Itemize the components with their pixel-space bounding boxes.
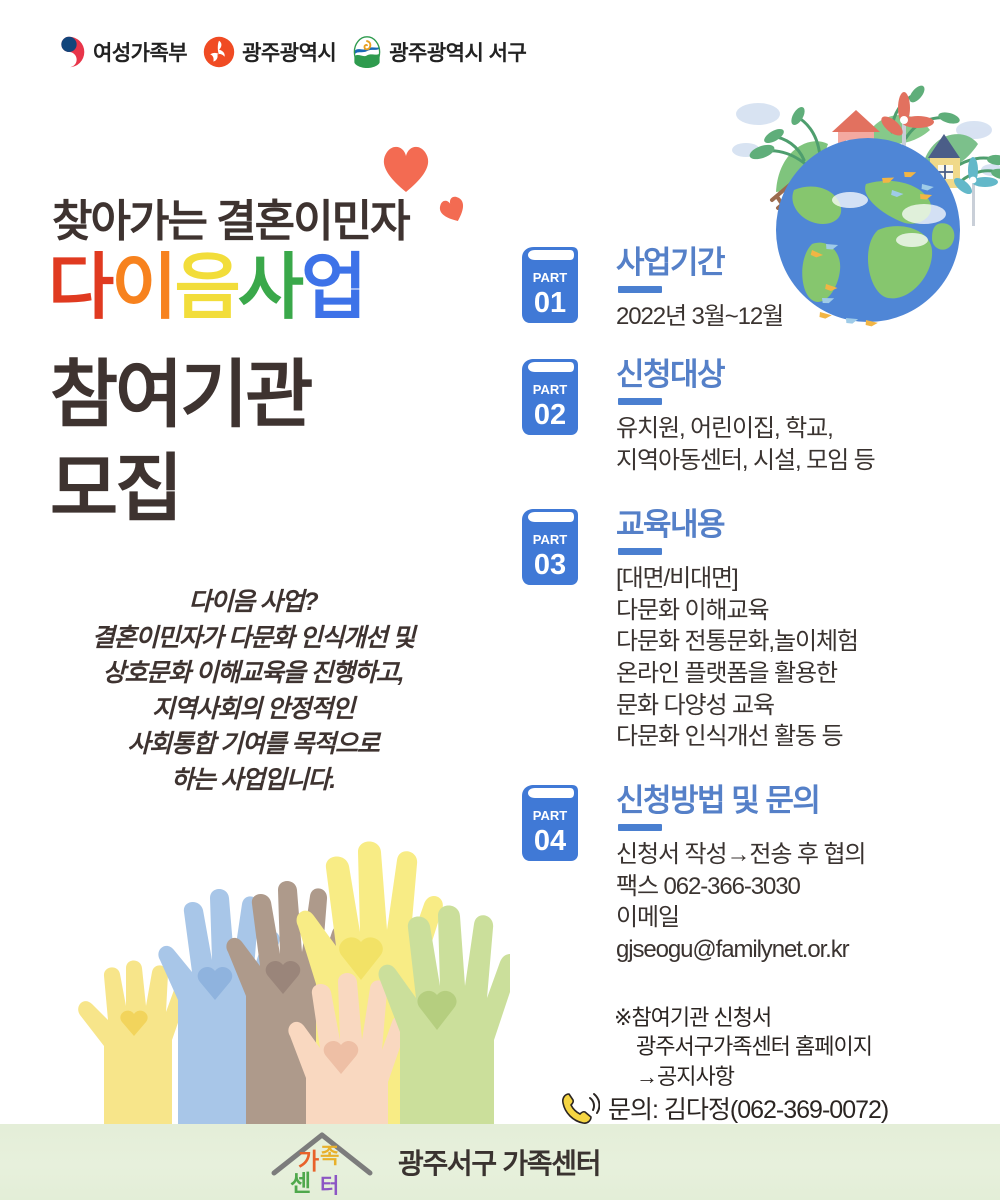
part-badge-number: 01 <box>534 287 566 319</box>
brand-char-2: 음 <box>175 252 238 324</box>
brand-char-3: 사 <box>238 252 301 324</box>
part-content-01: 2022년 3월~12월 <box>616 301 988 333</box>
part-line: 팩스 062-366-3030 <box>616 871 988 903</box>
part-item-01: PART 01 사업기간 2022년 3월~12월 <box>518 246 988 354</box>
part-content-04: 신청서 작성→전송 후 협의 팩스 062-366-3030 이메일 gjseo… <box>616 839 988 966</box>
part-item-02: PART 02 신청대상 유치원, 어린이집, 학교, 지역아동센터, 시설, … <box>518 358 988 504</box>
taegeuk-icon <box>52 35 86 69</box>
part-rule <box>618 548 662 555</box>
gwangju-city-icon <box>203 36 235 68</box>
part-heading-03: 교육내용 <box>616 508 988 542</box>
part-book-badge-icon: PART 01 <box>518 246 580 324</box>
hero-description: 다이음 사업? 결혼이민자가 다문화 인식개선 및 상호문화 이해교육을 진행하… <box>38 585 468 798</box>
part-badge-number: 02 <box>534 399 566 431</box>
organization-logo-bar: 여성가족부 광주광역시 광주광역시 서구 <box>52 28 526 76</box>
poster-canvas: 여성가족부 광주광역시 광주광역시 서구 <box>0 0 1000 1200</box>
part-book-badge-icon: PART 03 <box>518 508 580 586</box>
brand-char-0: 다 <box>48 252 111 324</box>
part-badge-number: 04 <box>534 825 566 857</box>
part-heading-01: 사업기간 <box>616 246 988 280</box>
blurb-line-3: 지역사회의 안정적인 <box>38 692 468 728</box>
footnote-line-0: ※참여기관 신청서 <box>614 1003 1000 1032</box>
hero-line-1: 참여기관 <box>50 358 310 432</box>
part-line: 다문화 전통문화,놀이체험 <box>616 626 988 658</box>
org-logo-seogu: 광주광역시 서구 <box>352 36 526 68</box>
brand-char-4: 업 <box>301 252 364 324</box>
phone-ringing-icon <box>560 1090 600 1126</box>
part-line: 온라인 플랫폼을 활용한 <box>616 658 988 690</box>
footer-center-name: 광주서구 가족센터 <box>398 1142 600 1182</box>
part-heading-02: 신청대상 <box>616 358 988 392</box>
contact-phone-text: 문의: 김다정(062-369-0072) <box>608 1090 888 1126</box>
seogu-district-icon <box>352 36 382 68</box>
hero-kicker: 찾아가는 결혼이민자 <box>52 185 409 249</box>
part-item-03: PART 03 교육내용 [대면/비대면] 다문화 이해교육 다문화 전통문화,… <box>518 508 988 780</box>
org-logo-gwangju: 광주광역시 <box>203 36 336 68</box>
part-line: 다문화 인식개선 활동 등 <box>616 721 988 753</box>
logo-char-teo: 터 <box>320 1175 339 1195</box>
brand-wordmark: 다이음사업 <box>48 252 364 324</box>
part-line-email: gjseogu@familynet.or.kr <box>616 934 988 966</box>
part-line: 2022년 3월~12월 <box>616 301 988 333</box>
part-line: 문화 다양성 교육 <box>616 690 988 722</box>
part-content-02: 유치원, 어린이집, 학교, 지역아동센터, 시설, 모임 등 <box>616 413 988 476</box>
part-content-03: [대면/비대면] 다문화 이해교육 다문화 전통문화,놀이체험 온라인 플랫폼을… <box>616 563 988 753</box>
org-logo-ministry: 여성가족부 <box>52 35 187 69</box>
part-badge-label: PART <box>533 382 567 397</box>
contact-phone-line: 문의: 김다정(062-369-0072) <box>560 1090 888 1126</box>
part-rule <box>618 824 662 831</box>
org-label-gwangju: 광주광역시 <box>242 37 336 67</box>
poster-footer: 가 족 센 터 광주서구 가족센터 <box>0 1124 1000 1200</box>
part-book-badge-icon: PART 02 <box>518 358 580 436</box>
blurb-line-2: 상호문화 이해교육을 진행하고, <box>38 656 468 692</box>
footnote-line-2: →공지사항 <box>614 1062 1000 1091</box>
part-line: 신청서 작성→전송 후 협의 <box>616 839 988 871</box>
part-line: 지역아동센터, 시설, 모임 등 <box>616 445 988 477</box>
part-heading-04: 신청방법 및 문의 <box>616 784 988 818</box>
part-rule <box>618 286 662 293</box>
part-badge-number: 03 <box>534 549 566 581</box>
raised-hands-illustration <box>60 800 510 1145</box>
part-badge-label: PART <box>533 808 567 823</box>
org-label-ministry: 여성가족부 <box>93 37 187 67</box>
heart-icon-large <box>378 142 434 194</box>
blurb-line-4: 사회통합 기여를 목적으로 <box>38 727 468 763</box>
hero-line-2: 모집 <box>50 452 180 526</box>
org-label-seogu: 광주광역시 서구 <box>389 37 526 67</box>
blurb-line-0: 다이음 사업? <box>38 585 468 621</box>
application-footnote: ※참여기관 신청서 광주서구가족센터 홈페이지 →공지사항 <box>614 1003 1000 1091</box>
blurb-line-1: 결혼이민자가 다문화 인식개선 및 <box>38 621 468 657</box>
part-line: 다문화 이해교육 <box>616 595 988 627</box>
parts-list: PART 01 사업기간 2022년 3월~12월 PART 02 신청대상 <box>518 246 988 970</box>
family-center-logo: 가 족 센 터 <box>268 1129 376 1195</box>
logo-char-sen: 센 <box>290 1170 311 1195</box>
part-item-04: PART 04 신청방법 및 문의 신청서 작성→전송 후 협의 팩스 062-… <box>518 784 988 966</box>
footnote-line-1: 광주서구가족센터 홈페이지 <box>614 1032 1000 1061</box>
part-rule <box>618 398 662 405</box>
blurb-line-5: 하는 사업입니다. <box>38 763 468 799</box>
part-badge-label: PART <box>533 270 567 285</box>
logo-char-jok: 족 <box>320 1145 339 1168</box>
part-badge-label: PART <box>533 532 567 547</box>
part-line: 유치원, 어린이집, 학교, <box>616 413 988 445</box>
part-line: [대면/비대면] <box>616 563 988 595</box>
brand-char-1: 이 <box>111 252 174 324</box>
part-book-badge-icon: PART 04 <box>518 784 580 862</box>
part-line: 이메일 <box>616 902 988 934</box>
heart-icon-small <box>438 196 468 224</box>
